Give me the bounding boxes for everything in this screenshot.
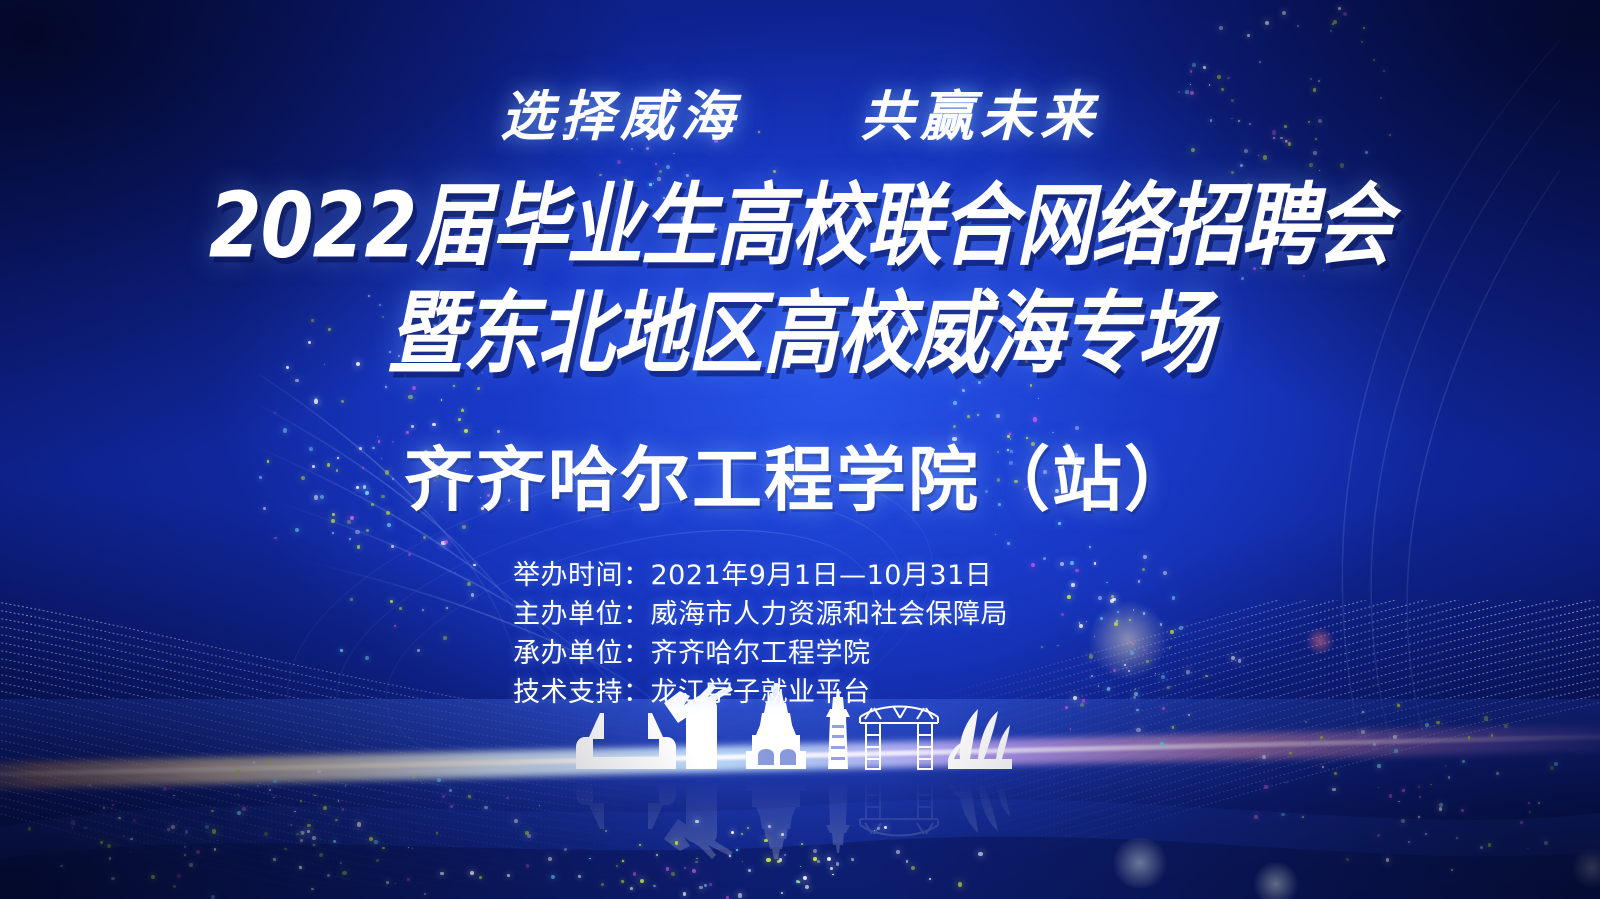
particle-dot [1488,843,1492,847]
particle-dot [173,885,177,889]
particle-dot [1333,20,1337,24]
particle-dot [830,867,833,870]
particle-dot [1338,7,1341,10]
glow-spot-pink [1305,628,1335,654]
particle-dot [507,874,510,877]
particle-dot [355,530,359,534]
particle-dot [177,874,181,878]
particle-dot [450,805,453,808]
particle-dot [1129,619,1131,621]
particle-dot [1254,815,1258,819]
main-title: 2022届毕业生高校联合网络招聘会 暨东北地区高校威海专场 [0,175,1600,369]
particle-dot [1061,613,1064,616]
particle-dot [211,895,215,899]
particle-dot [473,564,476,567]
particle-dot [264,832,268,836]
particle-dot [1071,583,1074,586]
particle-dot [315,398,317,400]
particle-dot [477,387,481,391]
particle-dot [813,857,817,861]
particle-dot [1111,595,1114,598]
particle-dot [458,418,461,421]
particle-dot [704,884,708,888]
particle-dot [1143,649,1145,651]
particle-dot [1086,621,1087,622]
particle-dot [307,824,311,828]
particle-dot [130,851,131,852]
particle-dot [621,880,624,883]
particle-dot [1079,622,1080,623]
particle-dot [340,862,342,864]
particle-dot [1098,596,1102,600]
particle-dot [1332,788,1336,792]
particle-dot [633,872,637,876]
particle-dot [441,541,445,545]
particle-dot [1007,542,1010,545]
particle-dot [374,840,378,844]
particle-dot [1480,846,1483,849]
particle-dot [109,857,112,860]
particle-dot [616,865,618,867]
glow-spot-bottom-center [1252,862,1300,899]
particle-dot [440,872,444,876]
particle-dot [350,598,353,601]
particle-dot [1169,647,1171,649]
particle-dot [801,843,803,845]
particle-dot [1281,813,1285,817]
particle-dot [1322,766,1324,768]
particle-dot [526,864,530,868]
particle-dot [1148,642,1149,643]
particle-dot [764,839,768,843]
particle-dot [996,414,1001,419]
particle-dot [1265,21,1269,25]
particle-dot [1130,651,1134,655]
particle-dot [1468,736,1471,739]
particle-dot [295,528,299,532]
particle-dot [1430,784,1432,786]
particle-dot [1365,151,1368,154]
particle-dot [639,844,641,846]
particle-dot [1313,151,1316,154]
particle-dot [184,846,186,848]
particle-dot [444,540,448,544]
particle-dot [695,820,698,823]
particle-dot [731,831,734,834]
particle-dot [548,857,552,861]
particle-dot [399,607,402,610]
particle-dot [1091,675,1094,678]
particle-dot [1451,869,1454,872]
particle-dot [1330,30,1332,32]
particle-dot [1259,61,1261,63]
particle-dot [167,828,171,832]
particle-dot [369,837,373,841]
particle-dot [874,830,875,831]
particle-dot [340,649,343,652]
recruitment-banner: 选择威海 共赢未来 2022届毕业生高校联合网络招聘会 暨东北地区高校威海专场 … [0,0,1600,899]
particle-dot [357,822,361,826]
particle-dot [205,825,209,829]
particle-dot [1136,709,1138,711]
particle-dot [1377,764,1380,767]
particle-dot [514,819,518,823]
particle-dot [366,529,369,532]
particle-dot [777,860,780,863]
particle-dot [314,399,318,403]
particle-dot [827,857,832,862]
particle-dot [301,831,305,835]
truss-bridge-icon [860,706,938,769]
particle-dot [1161,675,1165,679]
arch-gate-icon [576,713,676,769]
particle-dot [1136,728,1140,732]
particle-dot [896,850,900,854]
particle-dot [1361,41,1364,44]
particle-dot [605,830,607,832]
particle-dot [1238,659,1242,663]
particle-dot [1462,760,1465,763]
particle-dot [71,820,76,825]
particle-dot [196,850,200,854]
particle-dot [1439,803,1443,807]
particle-dot [1402,789,1405,792]
particle-dot [412,848,413,849]
lower-dune-shapes-decoration [0,709,1600,899]
calligraphy-left: 选择威海 [500,84,740,148]
particle-dot [385,386,387,388]
particle-dot [1419,796,1421,798]
particle-dot [995,534,997,536]
particle-dot [551,875,555,879]
particle-dot [1203,66,1206,69]
particle-dot [1262,755,1266,759]
particle-dot [424,893,427,896]
particle-dot [622,860,624,862]
particle-dot [1192,63,1196,67]
horizon-light-streak-decoration [0,724,1600,791]
particle-dot [1155,673,1157,675]
particle-dot [446,607,448,609]
particle-dot [1065,706,1068,709]
particle-dot [214,848,217,851]
particle-dot [471,593,475,597]
particle-dot [911,866,915,870]
particle-dot [442,795,445,798]
particle-dot [1041,646,1043,648]
calligraphy-right: 共赢未来 [860,84,1100,148]
station-title: 齐齐哈尔工程学院（站） [0,424,1600,525]
particle-dot [479,876,482,879]
particle-dot [311,888,314,891]
particle-dot [768,825,771,828]
particle-dot [1033,417,1037,421]
particle-dot [357,775,359,777]
particle-dot [1124,664,1126,666]
particle-dot [1172,726,1174,728]
particle-dot [103,807,105,809]
particle-dot [1538,802,1540,804]
particle-dot [273,779,277,783]
particle-dot [107,844,111,848]
particle-dot [376,859,379,862]
particle-dot [1106,582,1108,584]
particle-dot [738,893,742,897]
sail-pavilion-icon [948,709,1012,769]
particle-dot [284,848,286,850]
particle-dot [1408,841,1411,844]
particle-dot [1529,811,1531,813]
particle-dot [1164,651,1165,652]
glow-spot-lower-right [1110,838,1170,888]
particle-dot [408,553,411,556]
particle-dot [211,810,214,813]
particle-dot [1436,721,1440,725]
particle-dot [1114,622,1118,626]
particle-dot [1373,743,1376,746]
particle-dot [89,784,91,786]
particle-dot [151,875,155,879]
particle-dot [1544,841,1548,845]
particle-dot [1188,714,1191,717]
particle-dot [1425,723,1429,727]
particle-dot [640,879,644,883]
particle-dot [1219,26,1223,30]
particle-dot [1067,595,1071,599]
particle-dot [1070,561,1074,565]
particle-dot [461,409,464,412]
particle-dot [382,847,385,850]
particle-dot [817,860,820,863]
event-info-block: 举办时间：2021年9月1日—10月31日 主办单位：威海市人力资源和社会保障局… [513,556,1008,712]
particle-dot [884,826,888,830]
particle-dot [1135,688,1137,690]
particle-dot [1079,624,1083,628]
particle-dot [666,165,670,169]
particle-dot [1163,571,1167,575]
info-line-support: 技术支持：龙江学子就业平台 [513,673,1008,712]
particle-dot [1439,807,1443,811]
particle-dot [408,847,409,848]
particle-dot [296,767,298,769]
particle-dot [1258,155,1259,156]
particle-dot [1043,557,1046,560]
particle-dot [675,841,679,845]
particle-dot [1461,809,1464,812]
particle-dot [307,774,309,776]
particle-dot [319,853,323,857]
particle-dot [133,819,136,822]
particle-dot [506,797,509,800]
particle-dot [692,869,696,873]
particle-dot [189,863,193,867]
particle-dot [423,536,426,539]
particle-dot [779,858,783,862]
particle-dot [1421,728,1423,730]
particle-dot [1418,786,1421,789]
particle-dot [1138,580,1140,582]
particle-dot [462,408,463,409]
particle-dot [1133,696,1136,699]
particle-dot [1134,641,1136,643]
particle-dot [417,649,421,653]
particle-dot [1378,787,1379,788]
particle-dot [1425,833,1427,835]
particle-dot [323,806,327,810]
particle-dot [1504,724,1508,728]
particle-dot [1172,596,1176,600]
particle-dot [470,871,474,875]
particle-dot [236,770,240,774]
particle-dot [1240,164,1243,167]
particle-dot [736,849,738,851]
particle-dot [747,827,749,829]
particle-dot [395,883,396,884]
particle-dot [312,836,316,840]
particle-dot [729,855,731,857]
particle-dot [1309,163,1313,167]
particle-dot [1305,721,1307,723]
particle-dot [345,785,346,786]
particle-dot [178,821,180,823]
particle-dot [1146,660,1149,663]
particle-dot [1143,555,1147,559]
particle-dot [1247,34,1250,37]
particle-dot [1110,599,1114,603]
particle-dot [653,885,655,887]
particle-dot [1089,654,1093,658]
particle-dot [1231,656,1235,660]
particle-dot [525,831,529,835]
info-line-host: 主办单位：威海市人力资源和社会保障局 [513,595,1008,634]
particle-dot [123,835,125,837]
particle-dot [341,400,344,403]
particle-dot [709,883,712,886]
particle-dot [468,795,471,798]
particle-dot [1080,703,1084,707]
particle-dot [1398,801,1400,803]
particle-dot [391,545,394,548]
particle-dot [741,833,743,835]
particle-dot [977,414,979,416]
particle-dot [1401,819,1405,823]
particle-dot [929,878,932,881]
particle-dot [666,867,669,870]
particle-dot [300,839,303,842]
particle-dot [1263,155,1268,160]
particle-dot [357,545,360,548]
particle-dot [269,789,271,791]
particle-dot [484,806,487,809]
particle-dot [317,770,321,774]
particle-dot [111,877,115,881]
particle-dot [1133,609,1135,611]
particle-dot [673,153,674,154]
particle-dot [171,825,175,829]
particle-dot [462,525,466,529]
particle-dot [1113,669,1116,672]
particle-dot [1205,675,1208,678]
particle-dot [274,537,277,540]
particle-dot [527,834,531,838]
particle-dot [212,829,217,834]
particle-dot [695,861,698,864]
particle-dot [407,878,410,881]
particle-dot [327,874,330,877]
particle-dot [333,840,336,843]
particle-dot [1527,848,1529,850]
particle-dot [1100,617,1103,620]
particle-dot [1346,858,1349,861]
particle-dot [1117,611,1119,613]
particle-dot [1094,636,1096,638]
particle-dot [269,761,272,764]
particle-dot [967,415,970,418]
particle-dot [173,795,175,797]
particle-dot [422,783,424,785]
particle-dot [832,874,834,876]
particle-dot [1320,736,1323,739]
particle-dot [1098,685,1099,686]
particle-dot [1142,568,1146,572]
particle-dot [342,808,345,811]
particle-dot [1302,816,1304,818]
particle-dot [671,872,675,876]
particle-dot [422,609,425,612]
particle-dot [1397,704,1400,707]
particle-dot [394,625,396,627]
particle-dot [1363,27,1366,30]
particle-dot [300,800,302,802]
particle-dot [805,885,809,889]
particle-dot [877,827,880,830]
particle-dot [290,824,292,826]
particle-dot [742,861,744,863]
particle-dot [1170,630,1174,634]
water-band-decoration [0,699,1600,899]
particle-dot [1057,645,1059,647]
particle-dot [313,844,315,846]
particle-dot [349,767,351,769]
particle-dot [1082,699,1085,702]
particle-dot [781,892,783,894]
particle-dot [1550,766,1554,770]
particle-dot [335,819,338,822]
particle-dot [1334,772,1337,775]
particle-dot [1031,563,1035,567]
particle-dot [1491,734,1493,736]
calligraphy-slogan: 选择威海 共赢未来 [0,72,1600,151]
particle-dot [696,858,698,860]
particle-dot [294,811,296,813]
particle-dot [1167,686,1170,689]
particle-dot [784,854,786,856]
particle-dot [851,858,855,862]
particle-dot [836,862,840,866]
particle-dot [185,830,189,834]
main-title-line1: 2022届毕业生高校联合网络招聘会 [0,175,1600,276]
particle-dot [443,636,447,640]
particle-dot [1484,716,1488,720]
particle-dot [314,795,316,797]
particle-dot [1309,743,1311,745]
particle-dot [338,800,340,802]
particle-dot [449,789,453,793]
particle-dot [958,882,963,887]
particle-dot [766,858,771,863]
particle-dot [1160,623,1162,625]
particle-dot [273,858,275,860]
